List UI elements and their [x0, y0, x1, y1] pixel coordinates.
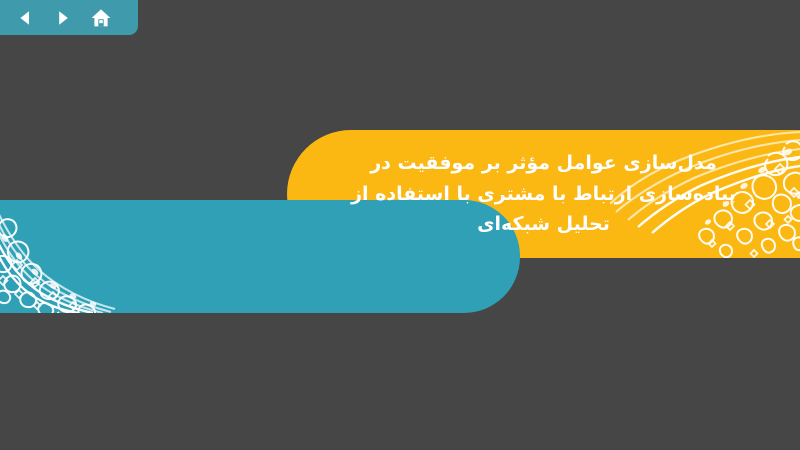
- title-line-2: پیاده‌سازی ارتباط با مشتری با استفاده از: [351, 180, 736, 209]
- accent-banner: [0, 200, 520, 313]
- forward-button[interactable]: [52, 7, 74, 29]
- home-icon: [90, 7, 112, 29]
- back-button[interactable]: [14, 7, 36, 29]
- arabesque-ornament-bottom-left-icon: [0, 200, 160, 313]
- navigation-bar: [0, 0, 138, 35]
- back-icon: [15, 8, 35, 28]
- home-button[interactable]: [90, 7, 112, 29]
- title-line-3: تحلیل شبکه‌ای: [477, 210, 610, 239]
- presentation-slide: مدل‌سازی عوامل مؤثر بر موفقیت در پیاده‌س…: [0, 0, 800, 450]
- title-line-1: مدل‌سازی عوامل مؤثر بر موفقیت در: [370, 149, 717, 178]
- forward-icon: [53, 8, 73, 28]
